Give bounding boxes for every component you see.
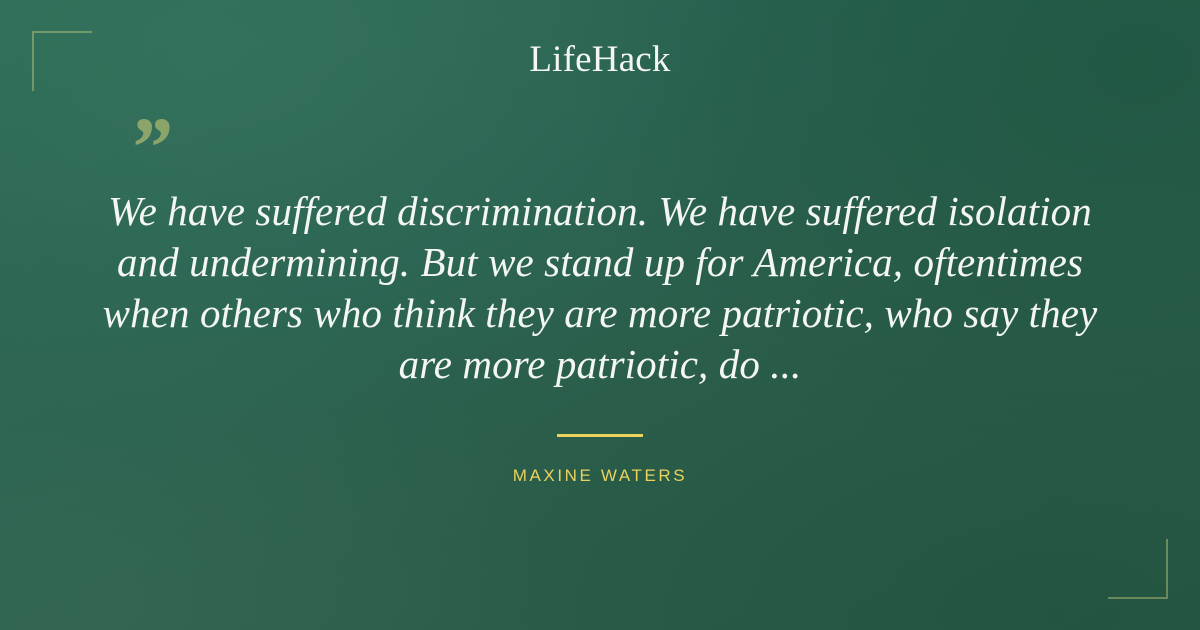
divider <box>557 434 643 437</box>
quote-line: We have suffered discrimination. We have… <box>80 186 1120 237</box>
quote-line: are more patriotic, do ... <box>80 339 1120 390</box>
author-attribution: MAXINE WATERS <box>0 465 1200 487</box>
brand-logo: LifeHack <box>0 38 1200 82</box>
corner-bracket-bottom-right-icon <box>1108 539 1168 599</box>
quote-card: LifeHack ” We have suffered discriminati… <box>0 0 1200 630</box>
quote-line: and undermining. But we stand up for Ame… <box>80 237 1120 288</box>
quote-mark-icon: ” <box>128 104 169 190</box>
quote-line: when others who think they are more patr… <box>80 288 1120 339</box>
quote-text: We have suffered discrimination. We have… <box>80 186 1120 390</box>
